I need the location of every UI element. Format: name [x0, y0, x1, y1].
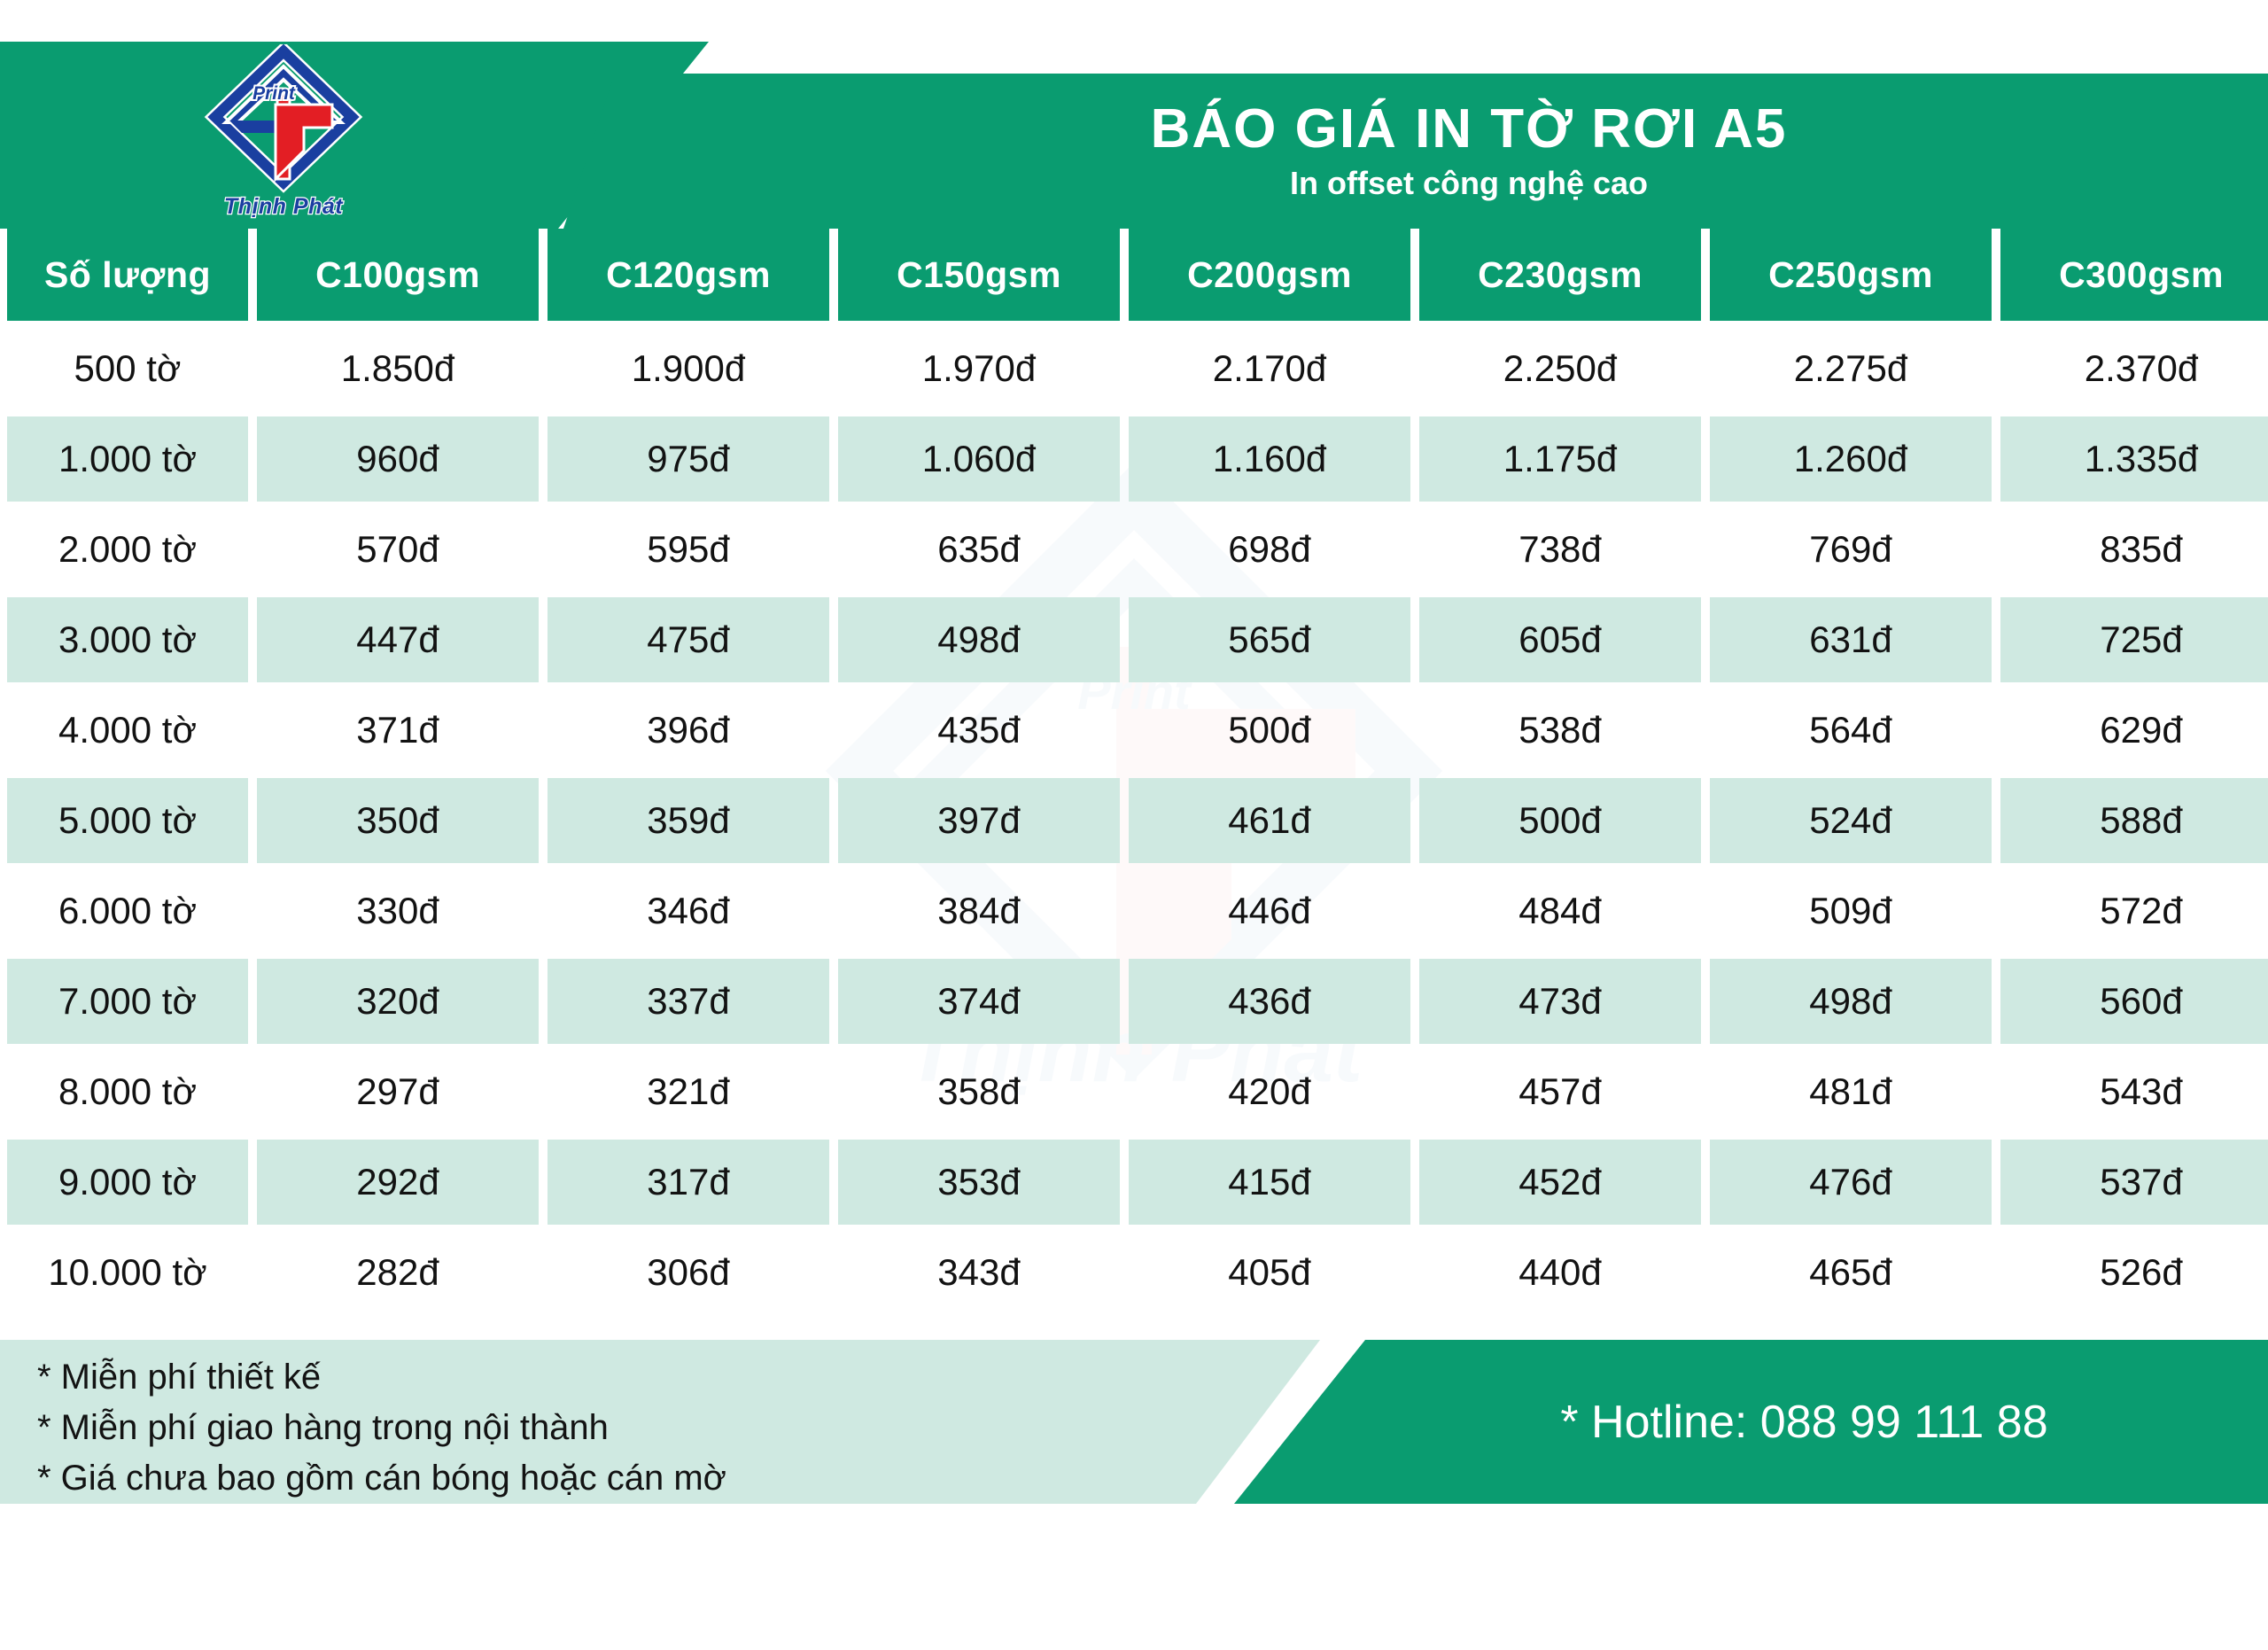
quantity-cell: 3.000 tờ: [7, 597, 248, 682]
price-cell: 1.335đ: [2000, 416, 2268, 502]
column-header-c200gsm: C200gsm: [1129, 229, 1410, 321]
price-cell: 629đ: [2000, 688, 2268, 773]
svg-text:Print: Print: [252, 83, 296, 104]
page-header: Print Thịnh Phát BÁO GIÁ IN TỜ RƠI A5 In…: [0, 0, 2268, 229]
price-table: Số lượngC100gsmC120gsmC150gsmC200gsmC230…: [0, 229, 2268, 1315]
price-cell: 282đ: [257, 1230, 539, 1315]
table-row: 6.000 tờ330đ346đ384đ446đ484đ509đ572đ: [7, 868, 2261, 953]
price-cell: 635đ: [838, 507, 1120, 592]
price-cell: 371đ: [257, 688, 539, 773]
price-cell: 975đ: [548, 416, 829, 502]
price-cell: 447đ: [257, 597, 539, 682]
column-header-c230gsm: C230gsm: [1419, 229, 1701, 321]
price-cell: 475đ: [548, 597, 829, 682]
column-header-c120gsm: C120gsm: [548, 229, 829, 321]
quantity-cell: 10.000 tờ: [7, 1230, 248, 1315]
table-row: 5.000 tờ350đ359đ397đ461đ500đ524đ588đ: [7, 778, 2261, 863]
column-header-c250gsm: C250gsm: [1710, 229, 1992, 321]
price-cell: 473đ: [1419, 959, 1701, 1044]
quantity-cell: 7.000 tờ: [7, 959, 248, 1044]
price-cell: 588đ: [2000, 778, 2268, 863]
table-row: 3.000 tờ447đ475đ498đ565đ605đ631đ725đ: [7, 597, 2261, 682]
price-cell: 500đ: [1419, 778, 1701, 863]
table-row: 1.000 tờ960đ975đ1.060đ1.160đ1.175đ1.260đ…: [7, 416, 2261, 502]
price-cell: 769đ: [1710, 507, 1992, 592]
company-logo: Print Thịnh Phát: [199, 44, 368, 222]
column-header-c300gsm: C300gsm: [2000, 229, 2268, 321]
price-cell: 498đ: [838, 597, 1120, 682]
quantity-cell: 6.000 tờ: [7, 868, 248, 953]
quantity-cell: 5.000 tờ: [7, 778, 248, 863]
price-cell: 1.900đ: [548, 326, 829, 411]
price-cell: 565đ: [1129, 597, 1410, 682]
price-cell: 346đ: [548, 868, 829, 953]
price-cell: 2.275đ: [1710, 326, 1992, 411]
quantity-cell: 500 tờ: [7, 326, 248, 411]
logo-brand-name: Thịnh Phát: [199, 194, 368, 220]
price-cell: 396đ: [548, 688, 829, 773]
price-cell: 835đ: [2000, 507, 2268, 592]
price-cell: 2.250đ: [1419, 326, 1701, 411]
price-cell: 353đ: [838, 1140, 1120, 1225]
price-cell: 543đ: [2000, 1049, 2268, 1134]
quantity-cell: 9.000 tờ: [7, 1140, 248, 1225]
price-cell: 560đ: [2000, 959, 2268, 1044]
quantity-cell: 2.000 tờ: [7, 507, 248, 592]
column-header-c150gsm: C150gsm: [838, 229, 1120, 321]
price-cell: 435đ: [838, 688, 1120, 773]
quantity-cell: 1.000 tờ: [7, 416, 248, 502]
price-cell: 337đ: [548, 959, 829, 1044]
price-cell: 415đ: [1129, 1140, 1410, 1225]
price-cell: 306đ: [548, 1230, 829, 1315]
price-cell: 595đ: [548, 507, 829, 592]
table-row: 4.000 tờ371đ396đ435đ500đ538đ564đ629đ: [7, 688, 2261, 773]
price-cell: 725đ: [2000, 597, 2268, 682]
price-cell: 960đ: [257, 416, 539, 502]
price-cell: 457đ: [1419, 1049, 1701, 1134]
price-cell: 2.170đ: [1129, 326, 1410, 411]
price-cell: 698đ: [1129, 507, 1410, 592]
table-row: 9.000 tờ292đ317đ353đ415đ452đ476đ537đ: [7, 1140, 2261, 1225]
price-cell: 359đ: [548, 778, 829, 863]
quantity-cell: 4.000 tờ: [7, 688, 248, 773]
price-cell: 330đ: [257, 868, 539, 953]
price-cell: 1.060đ: [838, 416, 1120, 502]
footer-note: * Giá chưa bao gồm cán bóng hoặc cán mờ: [37, 1453, 1320, 1504]
price-cell: 2.370đ: [2000, 326, 2268, 411]
price-cell: 292đ: [257, 1140, 539, 1225]
table-row: 7.000 tờ320đ337đ374đ436đ473đ498đ560đ: [7, 959, 2261, 1044]
price-cell: 1.160đ: [1129, 416, 1410, 502]
hotline-text[interactable]: * Hotline: 088 99 111 88: [1560, 1396, 2047, 1449]
page-title: BÁO GIÁ IN TỜ RƠI A5: [1151, 100, 1788, 160]
table-row: 10.000 tờ282đ306đ343đ405đ440đ465đ526đ: [7, 1230, 2261, 1315]
price-cell: 452đ: [1419, 1140, 1701, 1225]
page-subtitle: In offset công nghệ cao: [1290, 165, 1648, 202]
price-cell: 343đ: [838, 1230, 1120, 1315]
price-cell: 498đ: [1710, 959, 1992, 1044]
price-cell: 476đ: [1710, 1140, 1992, 1225]
table-row: 500 tờ1.850đ1.900đ1.970đ2.170đ2.250đ2.27…: [7, 326, 2261, 411]
footer-notes-panel: * Miễn phí thiết kế* Miễn phí giao hàng …: [0, 1340, 1320, 1504]
footer-note: * Miễn phí thiết kế: [37, 1352, 1320, 1403]
price-cell: 461đ: [1129, 778, 1410, 863]
price-cell: 538đ: [1419, 688, 1701, 773]
price-cell: 420đ: [1129, 1049, 1410, 1134]
price-cell: 320đ: [257, 959, 539, 1044]
price-cell: 384đ: [838, 868, 1120, 953]
price-cell: 350đ: [257, 778, 539, 863]
price-cell: 317đ: [548, 1140, 829, 1225]
column-header-c100gsm: C100gsm: [257, 229, 539, 321]
price-cell: 405đ: [1129, 1230, 1410, 1315]
price-cell: 570đ: [257, 507, 539, 592]
price-cell: 564đ: [1710, 688, 1992, 773]
price-cell: 1.175đ: [1419, 416, 1701, 502]
price-cell: 297đ: [257, 1049, 539, 1134]
price-cell: 631đ: [1710, 597, 1992, 682]
price-cell: 537đ: [2000, 1140, 2268, 1225]
price-cell: 524đ: [1710, 778, 1992, 863]
footer-hotline-panel: * Hotline: 088 99 111 88: [1234, 1340, 2268, 1504]
column-header-quantity: Số lượng: [7, 229, 248, 321]
price-cell: 500đ: [1129, 688, 1410, 773]
price-cell: 738đ: [1419, 507, 1701, 592]
price-cell: 605đ: [1419, 597, 1701, 682]
price-cell: 440đ: [1419, 1230, 1701, 1315]
price-cell: 374đ: [838, 959, 1120, 1044]
price-cell: 321đ: [548, 1049, 829, 1134]
price-cell: 358đ: [838, 1049, 1120, 1134]
table-row: 2.000 tờ570đ595đ635đ698đ738đ769đ835đ: [7, 507, 2261, 592]
table-row: 8.000 tờ297đ321đ358đ420đ457đ481đ543đ: [7, 1049, 2261, 1134]
price-cell: 1.260đ: [1710, 416, 1992, 502]
price-cell: 446đ: [1129, 868, 1410, 953]
price-cell: 1.970đ: [838, 326, 1120, 411]
price-cell: 397đ: [838, 778, 1120, 863]
footer-note: * Miễn phí giao hàng trong nội thành: [37, 1403, 1320, 1453]
quantity-cell: 8.000 tờ: [7, 1049, 248, 1134]
price-cell: 465đ: [1710, 1230, 1992, 1315]
header-title-panel: BÁO GIÁ IN TỜ RƠI A5 In offset công nghệ…: [563, 74, 2268, 229]
price-cell: 484đ: [1419, 868, 1701, 953]
table-header-row: Số lượngC100gsmC120gsmC150gsmC200gsmC230…: [7, 229, 2261, 321]
logo-mark: Print: [199, 44, 368, 195]
page-footer: * Miễn phí thiết kế* Miễn phí giao hàng …: [0, 1340, 2268, 1517]
price-cell: 1.850đ: [257, 326, 539, 411]
price-cell: 481đ: [1710, 1049, 1992, 1134]
price-cell: 509đ: [1710, 868, 1992, 953]
price-cell: 436đ: [1129, 959, 1410, 1044]
price-cell: 526đ: [2000, 1230, 2268, 1315]
price-cell: 572đ: [2000, 868, 2268, 953]
